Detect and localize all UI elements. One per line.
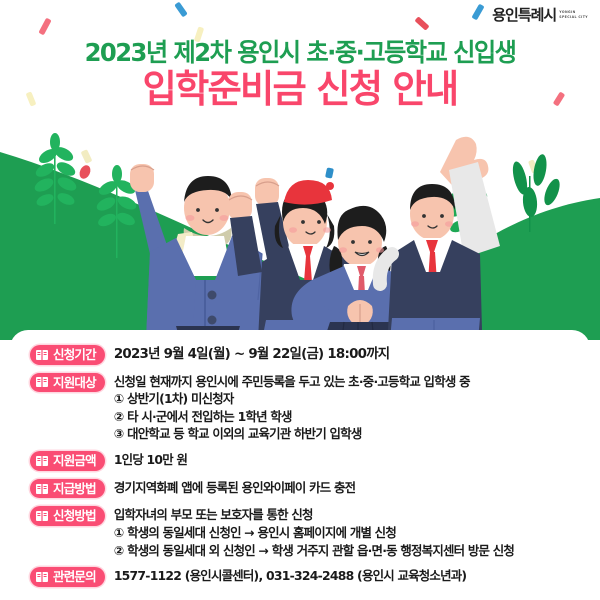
book-icon xyxy=(35,482,49,496)
hero-section: 용인특례시 YONGIN SPECIAL CITY 2023년 제2차 용인시 … xyxy=(0,0,600,340)
poster-title-line1: 2023년 제2차 용인시 초·중·고등학교 신입생 xyxy=(9,40,591,66)
book-icon xyxy=(35,348,49,362)
info-line: ① 상반기(1차) 미신청자 xyxy=(114,390,576,408)
city-logo: 용인특례시 YONGIN SPECIAL CITY xyxy=(492,8,588,23)
info-line: ② 타 시·군에서 전입하는 1학년 학생 xyxy=(114,408,576,426)
info-row-body: 신청일 현재까지 용인시에 주민등록을 두고 있는 초·중·고등학교 입학생 중… xyxy=(114,372,576,443)
info-line: 입학자녀의 부모 또는 보호자를 통한 신청 xyxy=(114,506,576,524)
info-row-body: 1577-1122 (용인시콜센터), 031-324-2488 (용인시 교육… xyxy=(114,566,576,585)
badge-label: 신청방법 xyxy=(53,508,96,524)
title-block: 2023년 제2차 용인시 초·중·고등학교 신입생 입학준비금 신청 안내 xyxy=(0,40,600,111)
info-row-amount: 지원금액 1인당 10만 원 xyxy=(30,450,576,471)
confetti-pink-left xyxy=(38,18,51,36)
info-line: 1577-1122 (용인시콜센터), 031-324-2488 (용인시 교육… xyxy=(114,567,576,585)
info-line: ③ 대안학교 등 학교 이외의 교육기관 하반기 입학생 xyxy=(114,425,576,443)
info-row-application-method: 신청방법 입학자녀의 부모 또는 보호자를 통한 신청 ① 학생의 동일세대 신… xyxy=(30,505,576,559)
badge-payment-method: 지급방법 xyxy=(30,479,105,499)
info-line: 1인당 10만 원 xyxy=(114,451,576,469)
info-row-eligibility: 지원대상 신청일 현재까지 용인시에 주민등록을 두고 있는 초·중·고등학교 … xyxy=(30,372,576,443)
info-row-contact: 관련문의 1577-1122 (용인시콜센터), 031-324-2488 (용… xyxy=(30,566,576,587)
badge-label: 관련문의 xyxy=(53,569,96,585)
info-line: ② 학생의 동일세대 외 신청인 → 학생 거주지 관할 읍·면·동 행정복지센… xyxy=(114,542,576,560)
badge-amount: 지원금액 xyxy=(30,451,105,471)
logo-english-text: YONGIN SPECIAL CITY xyxy=(559,8,588,20)
badge-label: 지원금액 xyxy=(53,453,96,469)
info-row-body: 입학자녀의 부모 또는 보호자를 통한 신청 ① 학생의 동일세대 신청인 → … xyxy=(114,505,576,559)
info-row-body: 1인당 10만 원 xyxy=(114,450,576,469)
badge-label: 신청기간 xyxy=(53,347,96,363)
info-line: 2023년 9월 4일(월) ~ 9월 22일(금) 18:00까지 xyxy=(114,345,576,364)
students-illustration xyxy=(0,130,600,340)
badge-application-method: 신청방법 xyxy=(30,506,105,526)
info-line: 경기지역화폐 앱에 등록된 용인와이페이 카드 충전 xyxy=(114,479,576,497)
confetti-blue-right xyxy=(471,4,484,21)
info-line: ① 학생의 동일세대 신청인 → 용인시 홈페이지에 개별 신청 xyxy=(114,524,576,542)
poster-title-line2: 입학준비금 신청 안내 xyxy=(6,68,594,111)
info-row-body: 경기지역화폐 앱에 등록된 용인와이페이 카드 충전 xyxy=(114,478,576,497)
student-boy-vest xyxy=(380,137,500,340)
book-icon xyxy=(35,509,49,523)
info-card: 신청기간 2023년 9월 4일(월) ~ 9월 22일(금) 18:00까지 … xyxy=(10,330,590,586)
confetti-blue-top xyxy=(174,2,188,18)
badge-label: 지원대상 xyxy=(53,375,96,391)
badge-eligibility: 지원대상 xyxy=(30,373,105,393)
logo-english-line2: SPECIAL CITY xyxy=(559,15,588,20)
info-row-body: 2023년 9월 4일(월) ~ 9월 22일(금) 18:00까지 xyxy=(114,344,576,364)
info-row-application-period: 신청기간 2023년 9월 4일(월) ~ 9월 22일(금) 18:00까지 xyxy=(30,344,576,365)
book-icon xyxy=(35,570,49,584)
badge-label: 지급방법 xyxy=(53,481,96,497)
book-icon xyxy=(35,454,49,468)
badge-application-period: 신청기간 xyxy=(30,345,105,365)
info-row-payment-method: 지급방법 경기지역화폐 앱에 등록된 용인와이페이 카드 충전 xyxy=(30,478,576,499)
info-line: 신청일 현재까지 용인시에 주민등록을 두고 있는 초·중·고등학교 입학생 중 xyxy=(114,373,576,391)
confetti-red-mid xyxy=(414,16,429,30)
book-icon xyxy=(35,375,49,389)
logo-korean-text: 용인특례시 xyxy=(492,8,556,23)
poster-root: 용인특례시 YONGIN SPECIAL CITY 2023년 제2차 용인시 … xyxy=(0,0,600,600)
badge-contact: 관련문의 xyxy=(30,567,105,587)
